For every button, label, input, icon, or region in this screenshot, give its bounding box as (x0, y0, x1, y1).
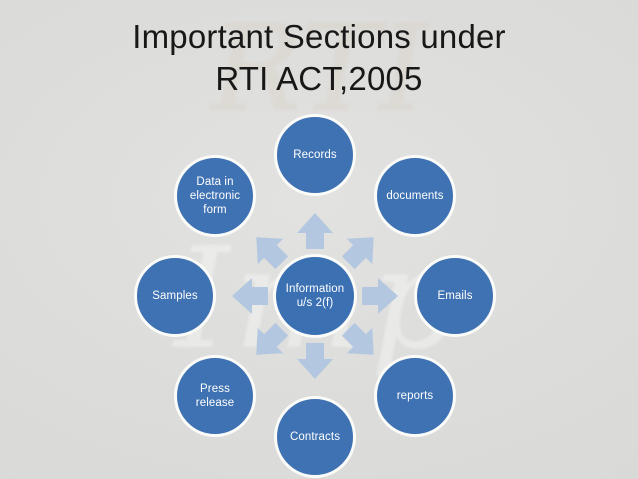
arrow-right-icon (362, 278, 398, 314)
page-title: Important Sections under RTI ACT,2005 (0, 16, 638, 100)
arrow-up-right-icon (336, 225, 387, 276)
arrow-up-icon (297, 213, 333, 249)
radial-arrows (232, 213, 398, 379)
title-line-2: RTI ACT,2005 (0, 58, 638, 100)
arrow-down-left-icon (244, 317, 295, 368)
arrow-up-left-icon (244, 225, 295, 276)
title-line-1: Important Sections under (0, 16, 638, 58)
slide-canvas: RTI Imp Important Sections under RTI ACT… (0, 0, 638, 479)
arrow-down-icon (297, 343, 333, 379)
arrow-left-icon (232, 278, 268, 314)
arrow-down-right-icon (336, 317, 387, 368)
